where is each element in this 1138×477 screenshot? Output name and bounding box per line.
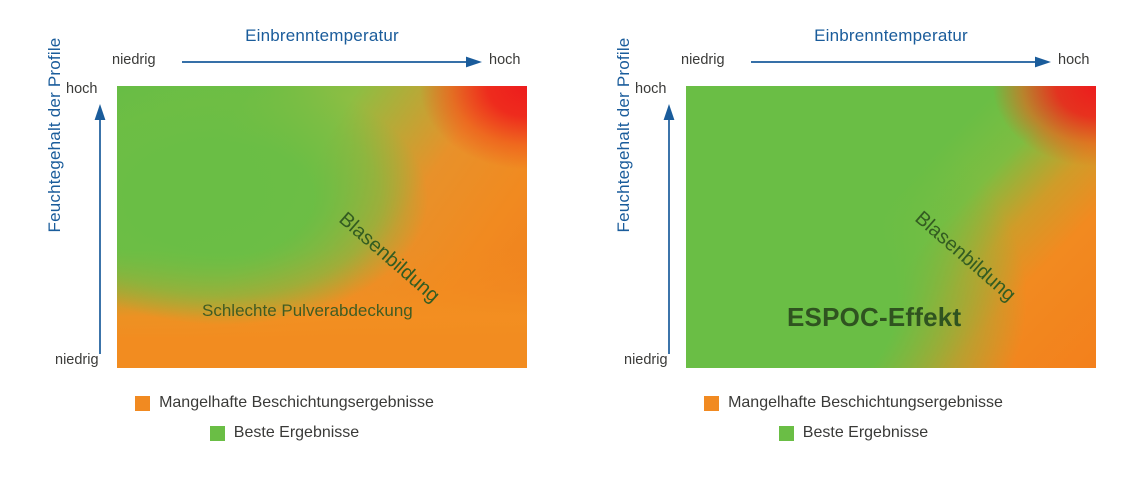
legend-conventional: Mangelhafte Beschichtungsergebnisse Best… [0, 388, 569, 448]
y-axis-tick-high: hoch [66, 81, 97, 97]
x-axis-arrow-icon [182, 55, 482, 69]
y-axis-title: Feuchtegehalt der Profile [45, 20, 65, 250]
legend-label-defect: Mangelhafte Beschichtungsergebnisse [159, 394, 434, 412]
chart-panel-conventional: Einbrenntemperatur niedrig hoch Feuchteg… [0, 0, 569, 477]
y-axis-arrow-icon [662, 104, 676, 354]
x-axis-arrow-icon [751, 55, 1051, 69]
plot-area-conventional: Blasenbildung Schlechte Pulverabdeckung [117, 86, 527, 368]
legend-swatch-green-icon [779, 426, 794, 441]
chart-panel-espoc: Einbrenntemperatur niedrig hoch Feuchteg… [569, 0, 1138, 477]
figure-root: Einbrenntemperatur niedrig hoch Feuchteg… [0, 0, 1138, 477]
plot-area-espoc: Blasenbildung ESPOC-Effekt [686, 86, 1096, 368]
y-axis-title: Feuchtegehalt der Profile [614, 20, 634, 250]
y-axis-tick-high: hoch [635, 81, 666, 97]
x-axis-tick-high: hoch [1058, 52, 1089, 68]
x-axis-tick-low: niedrig [681, 52, 725, 68]
legend-item-best: Beste Ergebnisse [0, 418, 569, 448]
legend-item-best: Beste Ergebnisse [569, 418, 1138, 448]
legend-label-defect: Mangelhafte Beschichtungsergebnisse [728, 394, 1003, 412]
x-axis-tick-low: niedrig [112, 52, 156, 68]
legend-label-best: Beste Ergebnisse [803, 424, 928, 442]
legend-swatch-orange-icon [704, 396, 719, 411]
x-axis-title: Einbrenntemperatur [686, 26, 1096, 46]
legend-swatch-orange-icon [135, 396, 150, 411]
y-axis-tick-low: niedrig [624, 352, 668, 368]
y-axis-arrow-icon [93, 104, 107, 354]
gradient-layer-red-corner [117, 86, 527, 368]
annotation-schlechte-pulverabdeckung: Schlechte Pulverabdeckung [202, 301, 413, 321]
x-axis-tick-high: hoch [489, 52, 520, 68]
legend-swatch-green-icon [210, 426, 225, 441]
legend-espoc: Mangelhafte Beschichtungsergebnisse Best… [569, 388, 1138, 448]
legend-item-defect: Mangelhafte Beschichtungsergebnisse [0, 388, 569, 418]
y-axis-tick-low: niedrig [55, 352, 99, 368]
x-axis-title: Einbrenntemperatur [117, 26, 527, 46]
legend-item-defect: Mangelhafte Beschichtungsergebnisse [569, 388, 1138, 418]
legend-label-best: Beste Ergebnisse [234, 424, 359, 442]
annotation-espoc-effekt: ESPOC-Effekt [787, 302, 961, 333]
